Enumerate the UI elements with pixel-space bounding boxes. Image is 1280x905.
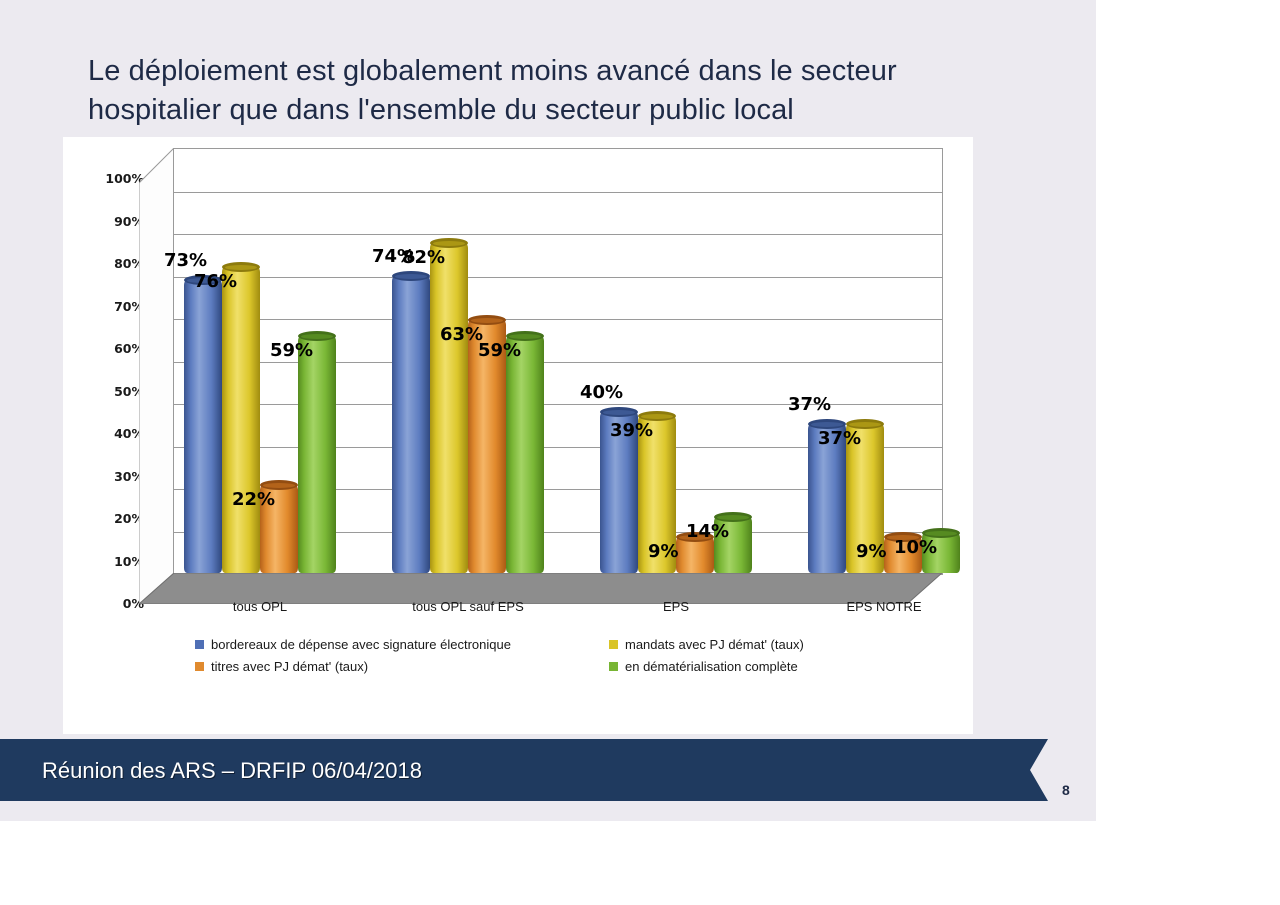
bar-en-d-mat-rialisation-compl-t: [298, 336, 336, 573]
x-axis-category-label: tous OPL: [144, 599, 376, 614]
page-number: 8: [1062, 782, 1070, 798]
chart-panel: 100%90%80%70%60%50%40%30%20%10%0% 73%76%…: [63, 137, 973, 734]
x-axis-category-label: EPS NOTRE: [768, 599, 1000, 614]
legend-swatch-icon: [195, 640, 204, 649]
bar-en-d-mat-rialisation-compl-t: [506, 336, 544, 573]
slide: Le déploiement est globalement moins ava…: [0, 0, 1096, 821]
legend-swatch-icon: [195, 662, 204, 671]
legend-item: titres avec PJ démat' (taux): [195, 659, 368, 674]
legend-swatch-icon: [609, 662, 618, 671]
bar-value-label: 39%: [610, 420, 653, 441]
legend-item: bordereaux de dépense avec signature éle…: [195, 637, 511, 652]
bar-value-label: 22%: [232, 489, 275, 510]
bar-value-label: 59%: [270, 340, 313, 361]
legend-label: bordereaux de dépense avec signature éle…: [211, 637, 511, 652]
title-line-1: Le déploiement est globalement moins ava…: [88, 52, 1038, 91]
bar-value-label: 63%: [440, 324, 483, 345]
x-axis-labels: tous OPLtous OPL sauf EPSEPSEPS NOTRE: [63, 599, 973, 625]
bar-mandats-avec-pj-d-mat-taux-: [222, 267, 260, 573]
legend-item: en dématérialisation complète: [609, 659, 798, 674]
legend-label: titres avec PJ démat' (taux): [211, 659, 368, 674]
chart-bars: 73%76%22%59%74%82%63%59%40%39%9%14%37%37…: [63, 137, 973, 607]
footer-text: Réunion des ARS – DRFIP 06/04/2018: [42, 758, 422, 784]
bar-value-label: 9%: [856, 541, 887, 562]
chart-legend: bordereaux de dépense avec signature éle…: [195, 637, 915, 689]
bar-value-label: 14%: [686, 521, 729, 542]
bar-value-label: 82%: [402, 247, 445, 268]
bar-value-label: 73%: [164, 250, 207, 271]
x-axis-category-label: EPS: [560, 599, 792, 614]
legend-item: mandats avec PJ démat' (taux): [609, 637, 804, 652]
bar-value-label: 40%: [580, 382, 623, 403]
title-line-2: hospitalier que dans l'ensemble du secte…: [88, 91, 1038, 130]
bar-value-label: 37%: [788, 394, 831, 415]
bar-value-label: 37%: [818, 428, 861, 449]
bar-bordereaux-de-d-pense-avec-s: [392, 276, 430, 573]
bar-titres-avec-pj-d-mat-taux-: [676, 537, 714, 573]
legend-label: en dématérialisation complète: [625, 659, 798, 674]
bar-mandats-avec-pj-d-mat-taux-: [430, 243, 468, 573]
legend-swatch-icon: [609, 640, 618, 649]
bar-value-label: 59%: [478, 340, 521, 361]
x-axis-category-label: tous OPL sauf EPS: [352, 599, 584, 614]
legend-label: mandats avec PJ démat' (taux): [625, 637, 804, 652]
page-title: Le déploiement est globalement moins ava…: [88, 52, 1038, 130]
footer-arrow-tip: [1030, 739, 1048, 801]
bar-value-label: 76%: [194, 271, 237, 292]
bar-value-label: 9%: [648, 541, 679, 562]
bar-bordereaux-de-d-pense-avec-s: [184, 280, 222, 573]
chart-plot-area: 100%90%80%70%60%50%40%30%20%10%0% 73%76%…: [63, 137, 973, 607]
bar-value-label: 10%: [894, 537, 937, 558]
